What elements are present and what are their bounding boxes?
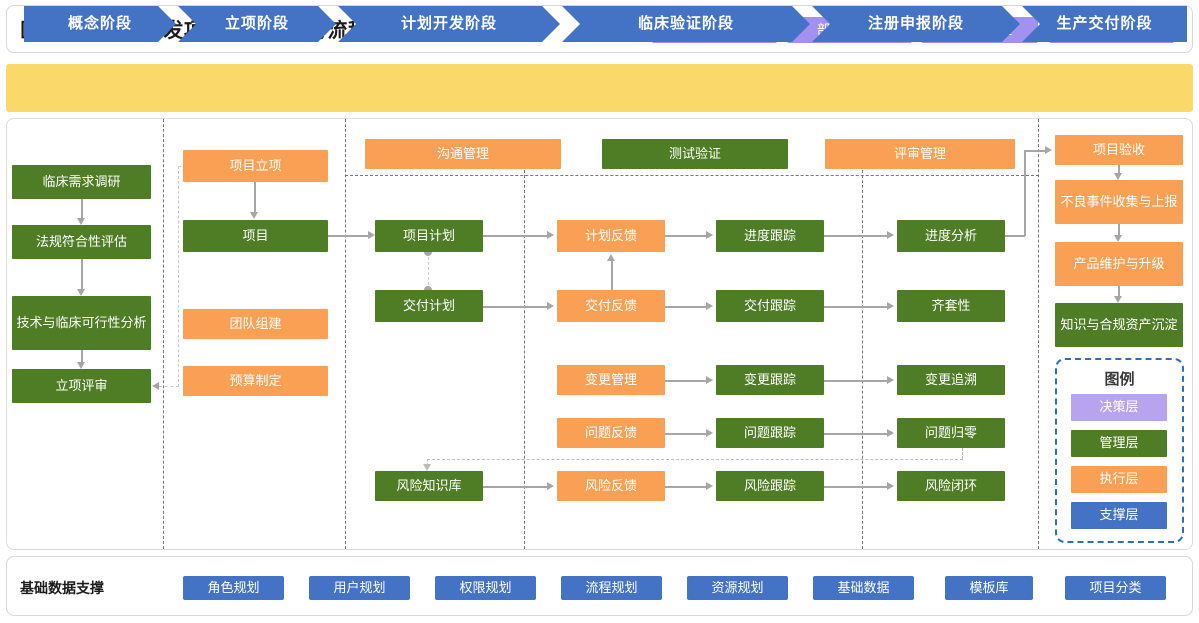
connector-r2-a [483,306,547,308]
arrow-initiation-1 [250,212,258,219]
stage-1[interactable]: 概念阶段 [24,6,176,42]
legend-item-4[interactable]: 支撑层 [1071,502,1167,529]
stage-6[interactable]: 生产交付阶段 [1022,6,1187,42]
arrow-r2-c [887,302,894,310]
arrow-r2-a [547,302,554,310]
connector-initiation-1 [254,182,256,212]
dashed-issue-h [427,459,963,460]
dashed-review-h-bottom [159,386,179,387]
header-row-divider [345,175,1039,176]
footer-button-2[interactable]: 用户规划 [309,576,410,600]
node-flow-12[interactable]: 问题反馈 [557,418,665,448]
connector-feedback-up [611,261,613,290]
legend-title: 图例 [1055,368,1184,389]
connector-r4-b [824,433,887,435]
arrow-project-to-plan [368,231,375,239]
node-flow-18[interactable]: 风险闭环 [897,471,1005,501]
node-initiation-3[interactable]: 团队组建 [183,309,328,339]
connector-concept-1 [81,199,83,218]
footer-button-5[interactable]: 资源规划 [687,576,788,600]
connector-r5-a [483,486,547,488]
footer-button-7[interactable]: 模板库 [945,576,1033,600]
stage-4[interactable]: 临床验证阶段 [562,6,810,42]
arrow-d3 [1114,296,1122,303]
column-divider-4 [862,170,863,549]
node-flow-5[interactable]: 交付计划 [375,290,483,322]
node-flow-11[interactable]: 变更追溯 [897,365,1005,395]
column-divider-2 [345,119,346,549]
section-header-3[interactable]: 评审管理 [825,139,1015,169]
node-flow-4[interactable]: 进度分析 [897,220,1005,252]
node-flow-13[interactable]: 问题跟踪 [716,418,824,448]
section-header-1[interactable]: 沟通管理 [365,139,561,169]
node-flow-8[interactable]: 齐套性 [897,290,1005,322]
node-initiation-4[interactable]: 预算制定 [183,366,328,396]
stage-5[interactable]: 注册申报阶段 [812,6,1020,42]
node-concept-2[interactable]: 法规符合性评估 [12,225,151,259]
legend-item-3[interactable]: 执行层 [1071,466,1167,493]
arrow-r1-a [547,231,554,239]
node-flow-17[interactable]: 风险跟踪 [716,471,824,501]
node-initiation-2[interactable]: 项目 [183,220,328,252]
stage-2[interactable]: 立项阶段 [178,6,336,42]
node-flow-10[interactable]: 变更跟踪 [716,365,824,395]
arrow-concept-3 [77,362,85,369]
connector-project-to-plan [328,235,368,237]
node-flow-9[interactable]: 变更管理 [557,365,665,395]
arrow-r1-c [887,231,894,239]
connector-r2-b [665,306,706,308]
node-initiation-1[interactable]: 项目立项 [183,150,328,182]
arrow-r1-b [706,231,713,239]
arrow-analysis-in [1045,146,1052,154]
connector-r1-c [824,235,887,237]
stage-3[interactable]: 计划开发阶段 [338,6,560,42]
node-flow-7[interactable]: 交付跟踪 [716,290,824,322]
connector-concept-2 [81,259,83,289]
connector-r1-b [665,235,706,237]
node-concept-1[interactable]: 临床需求调研 [12,165,151,199]
arrow-feedback-up [607,254,615,261]
node-flow-14[interactable]: 问题归零 [897,418,1005,448]
node-concept-3[interactable]: 技术与临床可行性分析 [12,296,151,350]
connector-d1 [1118,165,1120,173]
arrow-r2-b [706,302,713,310]
arrow-r5-b [706,482,713,490]
node-delivery-1[interactable]: 项目验收 [1055,135,1183,165]
arrow-concept-2 [77,289,85,296]
arrow-r5-c [887,482,894,490]
connector-r5-b [665,486,706,488]
arrow-d2 [1114,235,1122,242]
legend-item-2[interactable]: 管理层 [1071,430,1167,457]
dashed-review-v [178,166,179,387]
node-flow-1[interactable]: 项目计划 [375,220,483,252]
footer-button-1[interactable]: 角色规划 [183,576,284,600]
connector-d2 [1118,224,1120,235]
node-delivery-3[interactable]: 产品维护与升级 [1055,242,1183,286]
connector-r4-a [665,433,706,435]
footer-button-3[interactable]: 权限规划 [435,576,536,600]
diagram-root: 医疗器械行业研发项目过程及业务流程 企业级监控部门级监控项目级监控绩效分析 概念… [0,0,1199,623]
footer-button-8[interactable]: 项目分类 [1065,576,1166,600]
connector-r1-a [483,235,547,237]
connector-r3-a [665,380,706,382]
arrow-concept-1 [77,218,85,225]
dashed-issue-v [962,448,963,459]
connector-concept-3 [81,350,83,362]
arrow-d1 [1114,173,1122,180]
section-header-2[interactable]: 测试验证 [602,139,788,169]
footer-button-6[interactable]: 基础数据 [813,576,914,600]
column-divider-3 [524,170,525,549]
node-flow-16[interactable]: 风险反馈 [557,471,665,501]
arrow-review-left [152,382,159,390]
arrow-r5-a [547,482,554,490]
connector-r5-c [824,486,887,488]
arrow-r3-b [887,376,894,384]
dashed-plan-link [428,252,429,290]
arrow-r3-a [706,376,713,384]
footer-button-4[interactable]: 流程规划 [561,576,662,600]
connector-r3-b [824,380,887,382]
connector-r2-c [824,306,887,308]
node-flow-3[interactable]: 进度跟踪 [716,220,824,252]
arrow-r4-a [706,429,713,437]
node-flow-15[interactable]: 风险知识库 [375,471,483,501]
node-delivery-4[interactable]: 知识与合规资产沉淀 [1055,303,1183,347]
legend-item-1[interactable]: 决策层 [1071,394,1167,421]
footer-label: 基础数据支撑 [20,578,104,598]
connector-analysis-up [1024,150,1026,236]
node-flow-6[interactable]: 交付反馈 [557,290,665,322]
connector-analysis-in [1024,150,1045,152]
node-concept-4[interactable]: 立项评审 [12,369,151,403]
connector-analysis-out [1005,235,1025,237]
node-delivery-2[interactable]: 不良事件收集与上报 [1055,180,1183,224]
node-flow-2[interactable]: 计划反馈 [557,220,665,252]
arrow-issue-down [423,464,431,471]
column-divider-5 [1038,119,1039,549]
column-divider-1 [163,119,164,549]
connector-d3 [1118,286,1120,296]
stage-banner [6,64,1193,112]
arrow-r4-b [887,429,894,437]
